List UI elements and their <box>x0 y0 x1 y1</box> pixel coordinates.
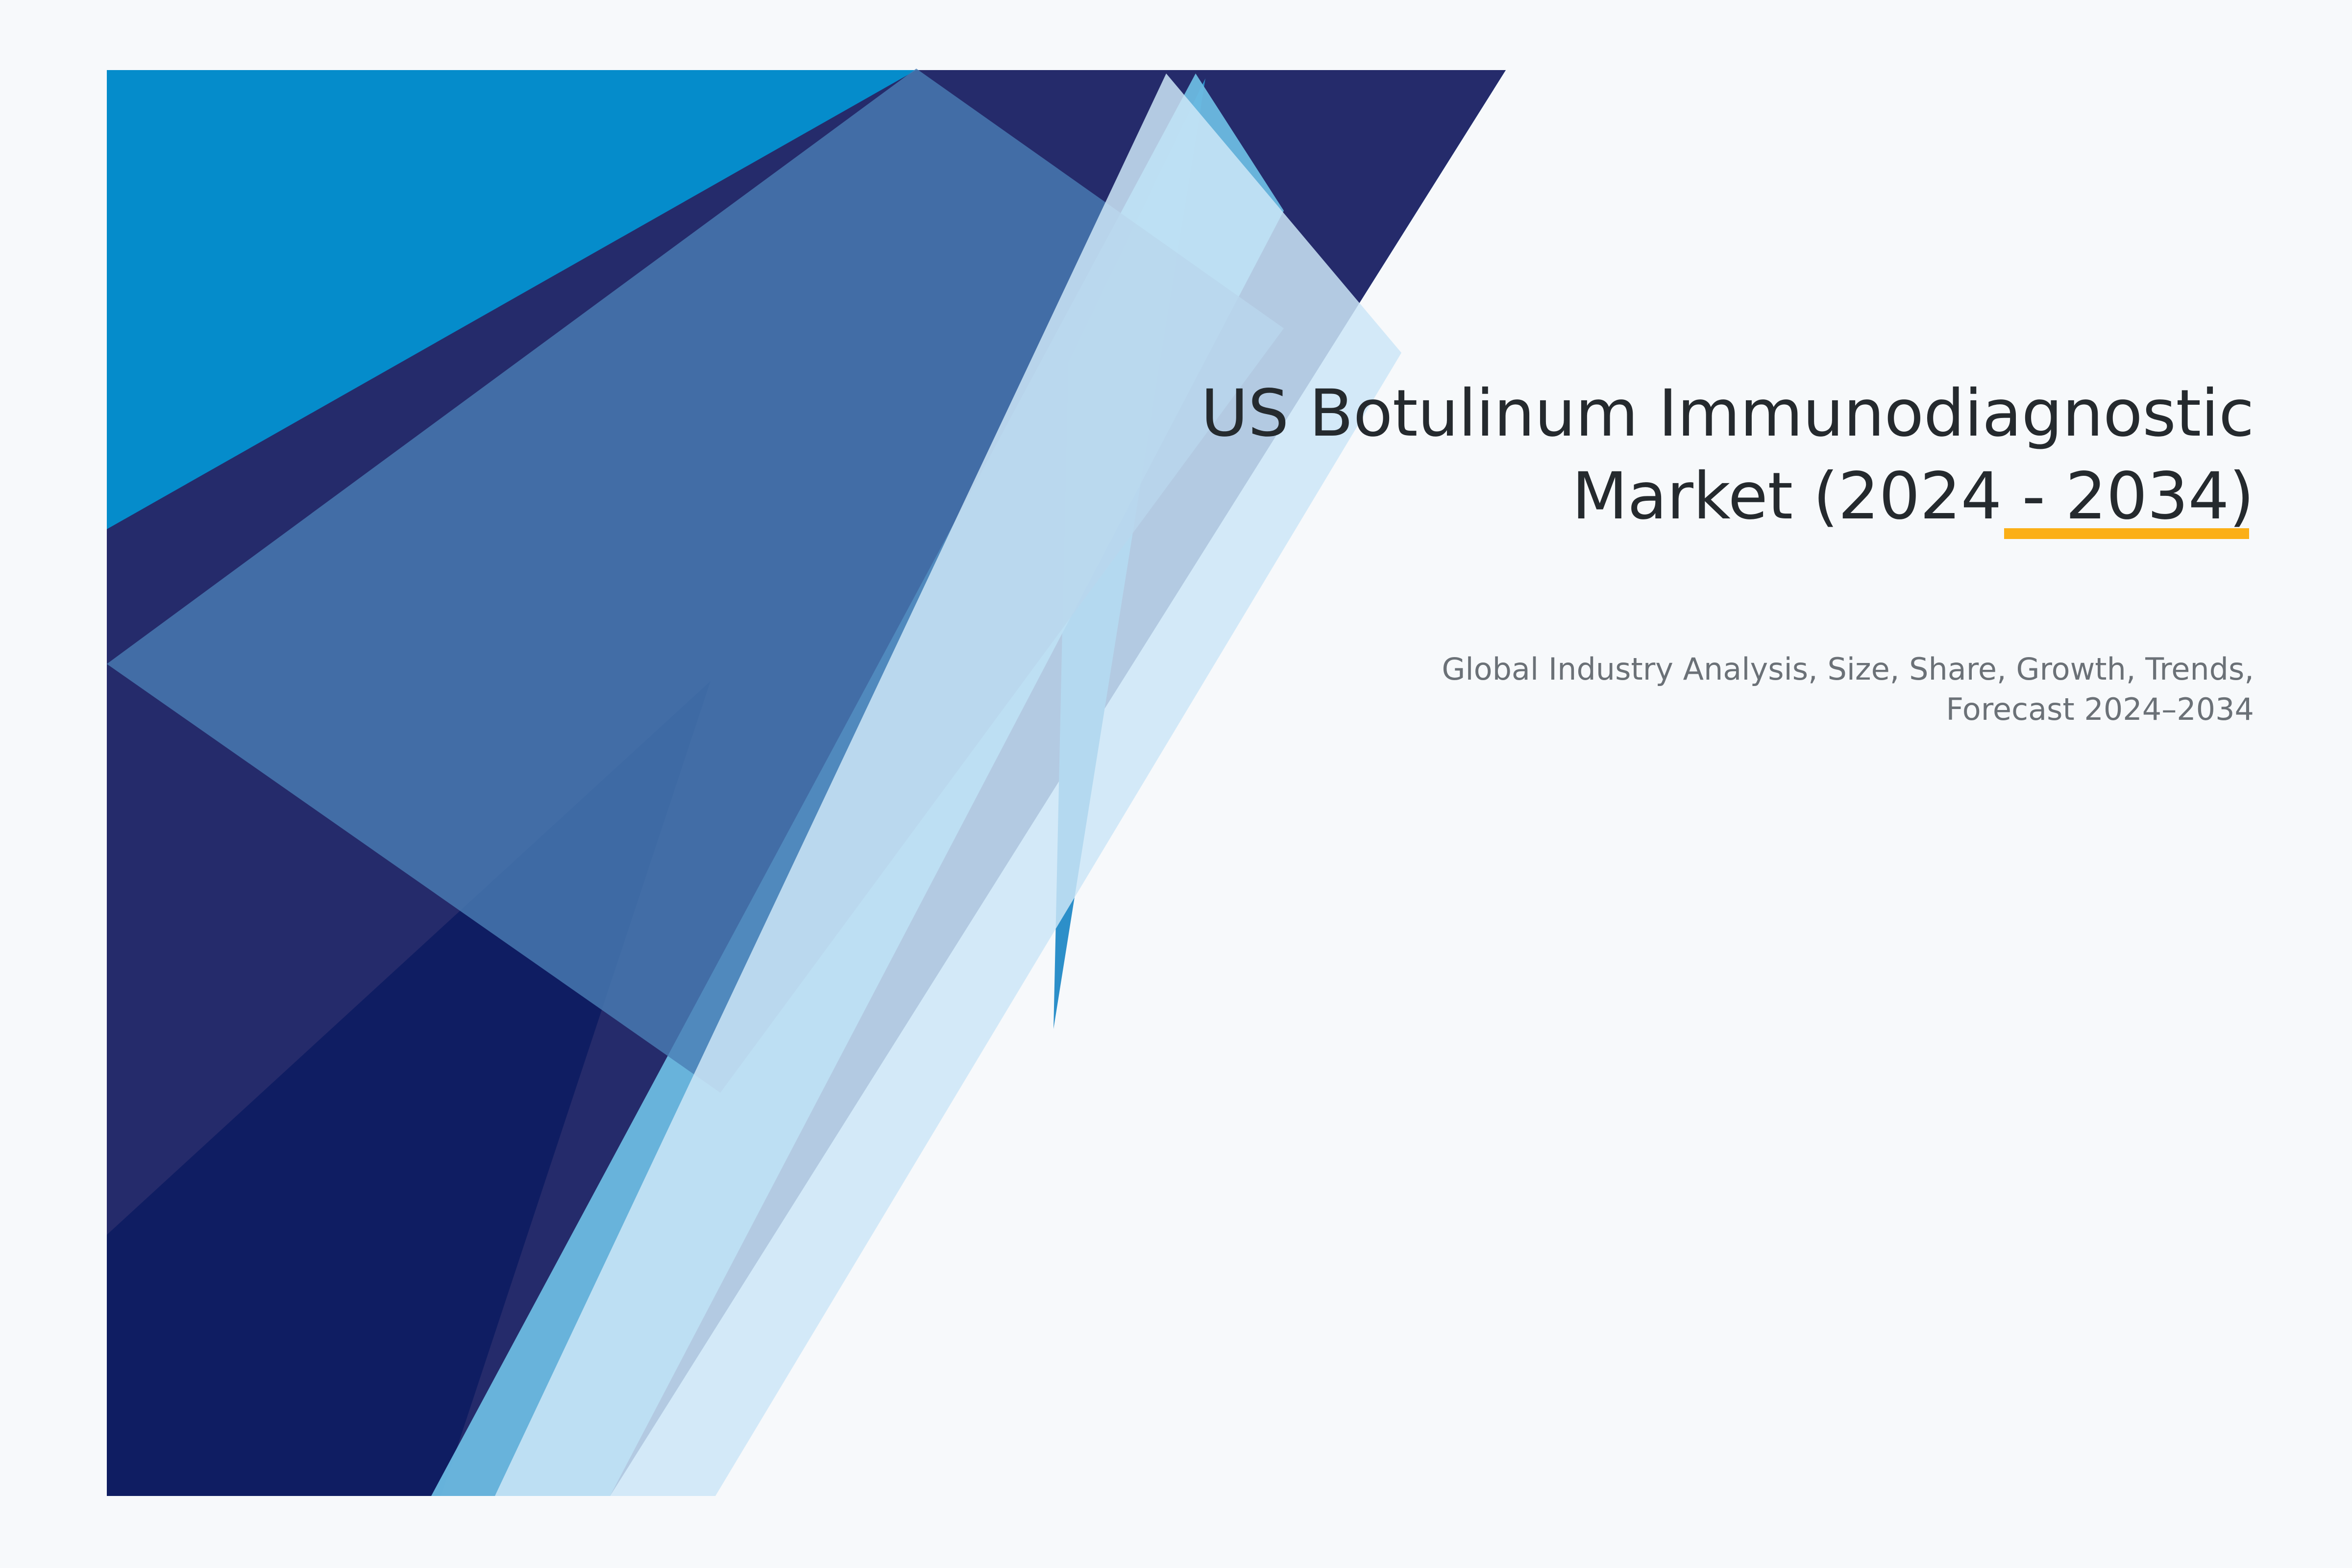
page-subtitle: Global Industry Analysis, Size, Share, G… <box>1421 649 2254 730</box>
title-underline-accent <box>2004 528 2249 539</box>
report-cover: US Botulinum Immunodiagnostic Market (20… <box>0 0 2352 1568</box>
cyan-thin-spike <box>1053 78 1205 1029</box>
light-blue-translucent-sheet <box>495 73 1401 1496</box>
navy-top-right-triangle <box>107 70 1506 1496</box>
cover-text-block: US Botulinum Immunodiagnostic Market (20… <box>980 372 2254 538</box>
cyan-backdrop-block <box>107 70 1506 1496</box>
cover-artwork <box>0 0 2352 1568</box>
sky-blue-diagonal-band <box>431 73 1284 1496</box>
page-title: US Botulinum Immunodiagnostic Market (20… <box>980 372 2254 538</box>
deep-navy-lower-wedge <box>107 681 710 1496</box>
slate-blue-translucent-quad <box>107 69 1284 1093</box>
background-rect <box>0 0 2352 1568</box>
